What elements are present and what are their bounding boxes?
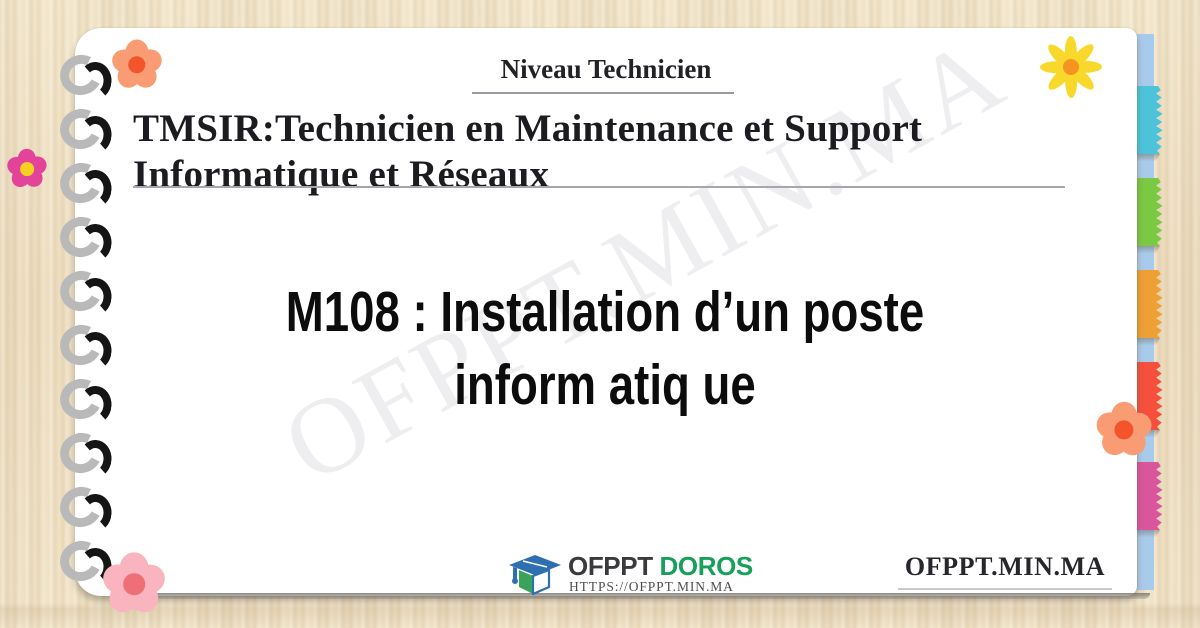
site-label: OFPPT.MIN.MA (895, 552, 1115, 582)
site-label-underline (898, 588, 1112, 590)
flower-salmon-right (1092, 398, 1156, 462)
page-content: OFPPT.MIN.MA Niveau Technicien TMSIR:Tec… (75, 28, 1137, 596)
ofppt-doros-logo: OFPPT DOROS HTTPS://OFPPT.MIN.MA (505, 549, 745, 596)
graduation-cap-cube-logo-icon (505, 551, 565, 595)
logo-brand-secondary: DOROS (660, 551, 753, 581)
logo-url: HTTPS://OFPPT.MIN.MA (569, 579, 734, 595)
module-title: M108 : Installation d’un poste inform at… (269, 276, 941, 422)
level-title-underline (472, 92, 734, 94)
flower-center (123, 573, 145, 595)
level-title: Niveau Technicien (75, 54, 1137, 85)
logo-wordmark: OFPPT DOROS (568, 551, 753, 582)
logo-brand-primary: OFPPT (568, 551, 653, 581)
flower-salmon-top-left (108, 36, 166, 94)
flower-pink-bottom-left (98, 548, 170, 620)
flower-center (20, 162, 34, 176)
flower-magenta-left-edge (4, 146, 50, 192)
heading-rule (133, 186, 1065, 188)
flower-yellow-top-right (1040, 36, 1102, 98)
program-heading: TMSIR:Technicien en Maintenance et Suppo… (133, 106, 1083, 198)
